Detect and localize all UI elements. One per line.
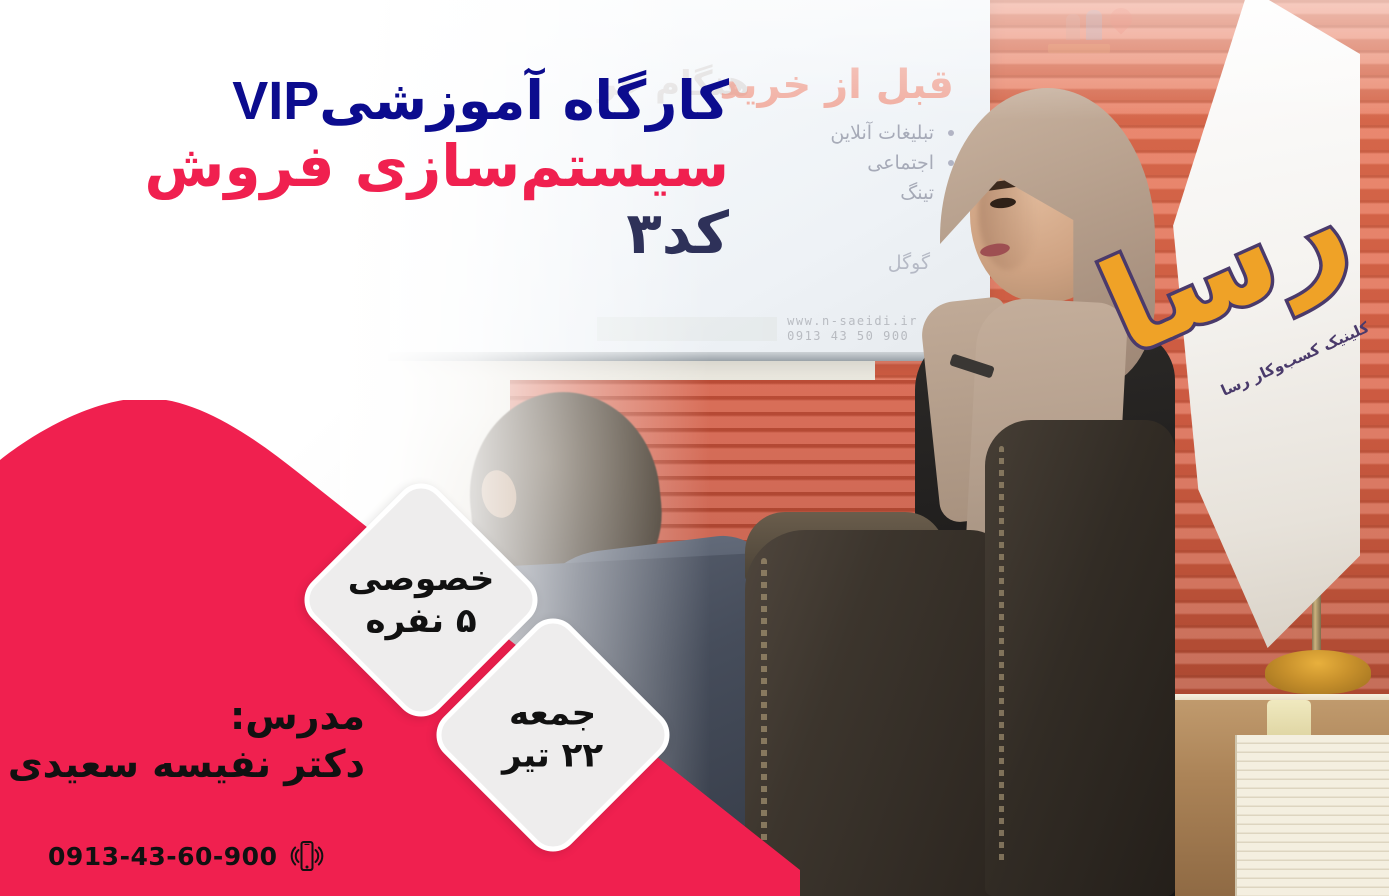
contact-row[interactable]: 0913-43-60-900	[48, 836, 327, 876]
slide-extra-text: گوگل	[888, 252, 930, 274]
slide-footer-placeholder	[597, 317, 777, 341]
slide-footer-url: www.n-saeidi.ir	[787, 314, 918, 329]
slide-bullets: تبلیغات آنلاین اجتماعی تینگ	[830, 118, 954, 208]
title-line-1: کارگاه آموزشیVIP	[144, 72, 729, 130]
slide-footer: www.n-saeidi.ir 0913 43 50 900	[426, 314, 954, 344]
badge-private-capacity-text: خصوصی ۵ نفره	[348, 558, 495, 642]
slide-footer-contact: www.n-saeidi.ir 0913 43 50 900	[787, 314, 918, 344]
instructor-block: مدرس: دکتر نفیسه سعیدی	[8, 693, 365, 788]
slide-logo-icon	[1030, 4, 1140, 66]
title-line-3: کد۳	[144, 201, 729, 266]
badge-line-1: خصوصی	[348, 558, 495, 600]
title-line-2: سیستم‌سازی فروش	[144, 134, 729, 199]
instructor-label: مدرس:	[8, 693, 365, 741]
contact-phone-number[interactable]: 0913-43-60-900	[48, 842, 277, 871]
slide-title: قبل از خرید	[719, 62, 954, 108]
leather-chair-back	[985, 420, 1175, 896]
flag-base	[1265, 650, 1371, 694]
paper-stack	[1235, 735, 1389, 896]
leather-chair-front	[745, 530, 1010, 896]
slide-bullet-item: اجتماعی	[830, 148, 954, 178]
slide-bullet-item: تینگ	[830, 178, 954, 208]
person-icon	[1086, 10, 1102, 40]
person-icon-2	[1066, 14, 1080, 40]
ringing-phone-icon	[287, 836, 327, 876]
poster-canvas: هنگام خر قبل از خرید تبلیغات آنلاین اجتم…	[0, 0, 1389, 896]
screen-frame	[388, 352, 992, 361]
poster-title: کارگاه آموزشیVIP سیستم‌سازی فروش کد۳	[144, 72, 729, 266]
title-vip-label: VIP	[232, 71, 319, 131]
badge-line-2: ۲۲ تیر	[502, 735, 603, 777]
badge-event-date-text: جمعه ۲۲ تیر	[502, 693, 603, 777]
badge-line-2: ۵ نفره	[348, 600, 495, 642]
instructor-name: دکتر نفیسه سعیدی	[8, 741, 365, 789]
logo-bar	[1048, 44, 1110, 53]
badge-line-1: جمعه	[502, 693, 603, 735]
map-pin-icon	[1105, 3, 1136, 34]
slide-footer-phone: 0913 43 50 900	[787, 329, 918, 344]
slide-bullet-item: تبلیغات آنلاین	[830, 118, 954, 148]
title-line-1-fa: کارگاه آموزشی	[319, 69, 729, 132]
